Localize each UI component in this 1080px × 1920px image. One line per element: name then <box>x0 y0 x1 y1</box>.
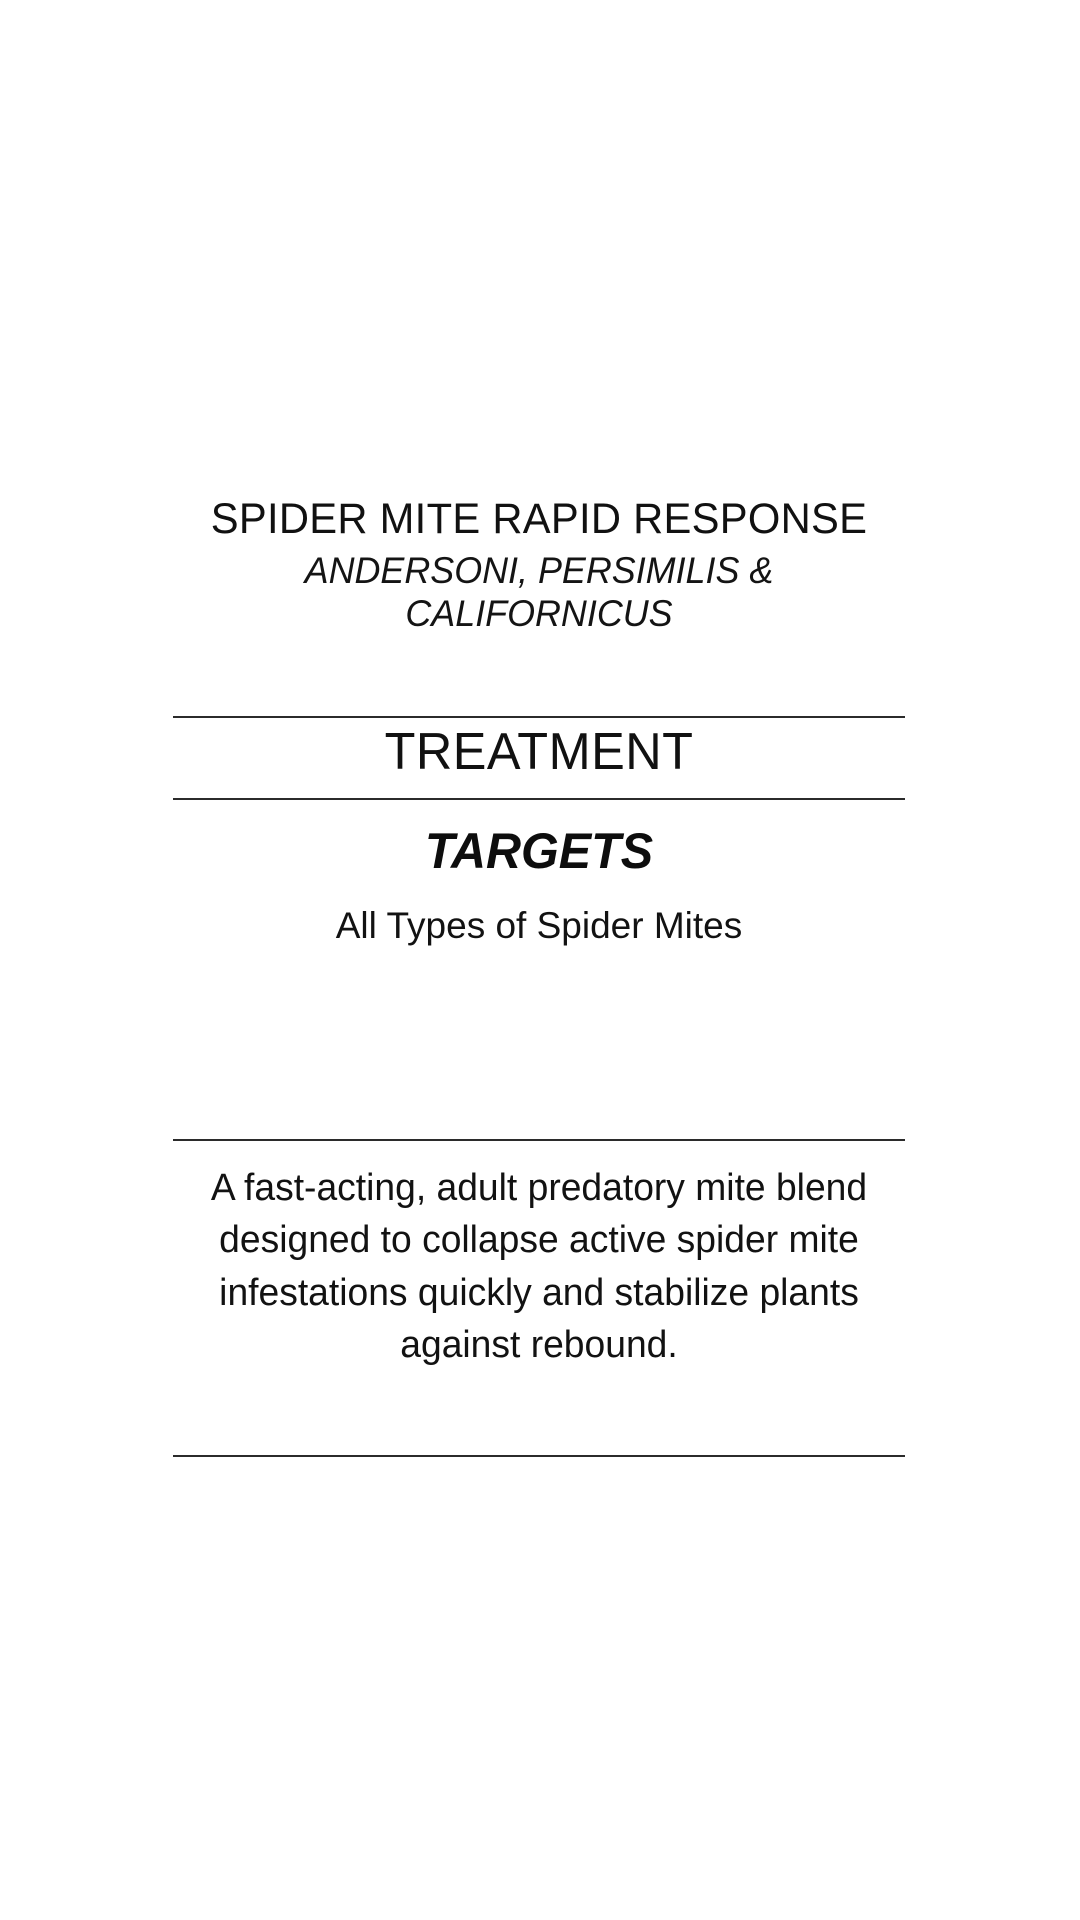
divider-above-treatment <box>173 716 905 718</box>
product-title: SPIDER MITE RAPID RESPONSE <box>184 495 894 543</box>
targets-block: TARGETS All Types of Spider Mites <box>173 826 905 1044</box>
divider-below-description <box>173 1455 905 1457</box>
targets-spacer <box>173 948 905 1044</box>
product-description: A fast-acting, adult predatory mite blen… <box>180 1162 897 1372</box>
divider-above-description <box>173 1139 905 1141</box>
product-info-card-page: SPIDER MITE RAPID RESPONSE ANDERSONI, PE… <box>0 0 1080 1920</box>
section-label-treatment: TREATMENT <box>184 726 894 778</box>
product-subtitle: ANDERSONI, PERSIMILIS & CALIFORNICUS <box>184 549 894 636</box>
product-heading-block: SPIDER MITE RAPID RESPONSE ANDERSONI, PE… <box>173 495 905 636</box>
targets-value: All Types of Spider Mites <box>173 904 905 948</box>
divider-below-treatment <box>173 798 905 800</box>
targets-heading: TARGETS <box>184 826 894 876</box>
